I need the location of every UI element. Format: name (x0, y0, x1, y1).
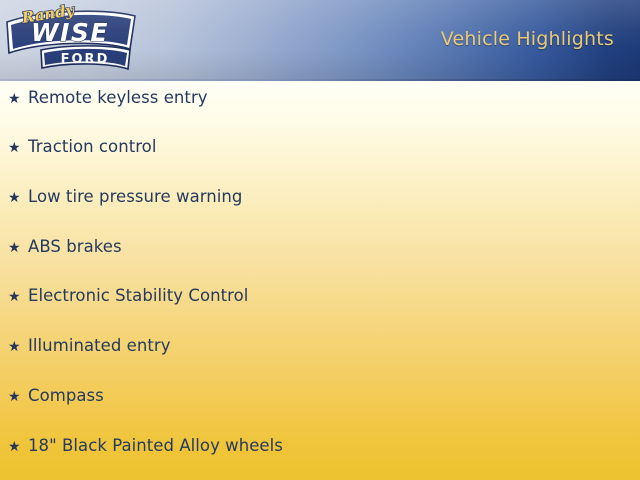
list-item: ★ Compass (8, 388, 104, 405)
list-item: ★ Electronic Stability Control (8, 288, 248, 305)
page-title: Vehicle Highlights (441, 28, 614, 50)
star-icon: ★ (8, 440, 28, 454)
list-item-label: Electronic Stability Control (28, 288, 248, 305)
star-icon: ★ (8, 92, 28, 106)
page-header: WISE Randy FORD Vehicle Highlights (0, 0, 640, 81)
randy-wise-ford-logo[interactable]: WISE Randy FORD (6, 2, 136, 80)
list-item: ★ Remote keyless entry (8, 90, 208, 107)
list-item-label: Low tire pressure warning (28, 189, 242, 206)
list-item: ★ Traction control (8, 139, 156, 156)
list-item-label: 18" Black Painted Alloy wheels (28, 438, 283, 455)
list-item-label: Illuminated entry (28, 338, 171, 355)
star-icon: ★ (8, 191, 28, 205)
list-item-label: ABS brakes (28, 239, 122, 256)
list-item: ★ Low tire pressure warning (8, 189, 242, 206)
highlights-panel: ★ Remote keyless entry ★ Traction contro… (0, 81, 640, 480)
list-item: ★ 18" Black Painted Alloy wheels (8, 438, 283, 455)
list-item: ★ Illuminated entry (8, 338, 171, 355)
star-icon: ★ (8, 141, 28, 155)
list-item-label: Traction control (28, 139, 156, 156)
vehicle-highlights-page: WISE Randy FORD Vehicle Highlights ★ Rem… (0, 0, 640, 480)
list-item-label: Compass (28, 388, 104, 405)
star-icon: ★ (8, 390, 28, 404)
star-icon: ★ (8, 340, 28, 354)
star-icon: ★ (8, 241, 28, 255)
star-icon: ★ (8, 290, 28, 304)
list-item: ★ ABS brakes (8, 239, 122, 256)
logo-ford-text: FORD (61, 52, 110, 67)
list-item-label: Remote keyless entry (28, 90, 208, 107)
